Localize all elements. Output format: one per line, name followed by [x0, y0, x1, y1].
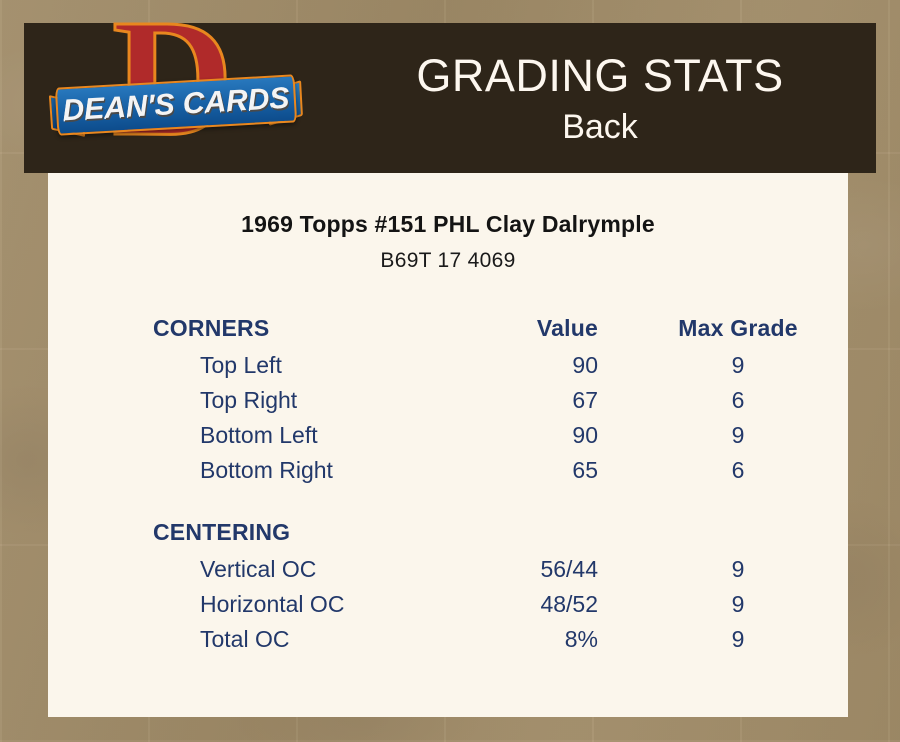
section-title-corners: CORNERS: [48, 308, 458, 348]
row-label-total-oc: Total OC: [48, 622, 458, 657]
card-id: B69T 17 4069: [48, 249, 848, 273]
row-grade-total-oc: 9: [628, 622, 848, 657]
row-value-vertical-oc: 56/44: [458, 552, 628, 587]
column-header-max-grade: Max Grade: [628, 308, 848, 348]
page-subtitle: Back: [562, 106, 638, 148]
section-centering-grade-spacer: [628, 512, 848, 552]
table-row: Top Left 90 9: [48, 348, 848, 383]
table-row: Total OC 8% 9: [48, 622, 848, 657]
header-title-block: GRADING STATS Back: [324, 23, 876, 173]
card-title: 1969 Topps #151 PHL Clay Dalrymple: [48, 211, 848, 238]
row-value-total-oc: 8%: [458, 622, 628, 657]
table-row: Vertical OC 56/44 9: [48, 552, 848, 587]
app-header: D DEAN'S CARDS GRADING STATS Back: [24, 23, 876, 173]
table-row: Top Right 67 6: [48, 383, 848, 418]
logo-ribbon-text: DEAN'S CARDS: [49, 74, 303, 136]
table-row: Bottom Left 90 9: [48, 418, 848, 453]
row-grade-top-left: 9: [628, 348, 848, 383]
grading-stats-table: CORNERS Value Max Grade Top Left 90 9 To…: [48, 308, 848, 657]
row-grade-vertical-oc: 9: [628, 552, 848, 587]
section-header-centering: CENTERING: [48, 512, 848, 552]
row-grade-bottom-right: 6: [628, 453, 848, 488]
logo-ribbon: DEAN'S CARDS: [50, 73, 302, 137]
row-label-vertical-oc: Vertical OC: [48, 552, 458, 587]
row-value-horizontal-oc: 48/52: [458, 587, 628, 622]
row-value-top-left: 90: [458, 348, 628, 383]
section-spacer: [48, 488, 848, 512]
row-label-bottom-right: Bottom Right: [48, 453, 458, 488]
page-title: GRADING STATS: [416, 48, 783, 104]
row-label-horizontal-oc: Horizontal OC: [48, 587, 458, 622]
row-label-top-right: Top Right: [48, 383, 458, 418]
row-grade-top-right: 6: [628, 383, 848, 418]
section-centering-value-spacer: [458, 512, 628, 552]
row-grade-bottom-left: 9: [628, 418, 848, 453]
grading-stats-body: CORNERS Value Max Grade Top Left 90 9 To…: [48, 308, 848, 657]
table-row: Bottom Right 65 6: [48, 453, 848, 488]
row-label-top-left: Top Left: [48, 348, 458, 383]
row-value-bottom-left: 90: [458, 418, 628, 453]
row-value-bottom-right: 65: [458, 453, 628, 488]
row-label-bottom-left: Bottom Left: [48, 418, 458, 453]
section-header-corners: CORNERS Value Max Grade: [48, 308, 848, 348]
row-value-top-right: 67: [458, 383, 628, 418]
deans-cards-logo: D DEAN'S CARDS: [50, 29, 305, 167]
table-row: Horizontal OC 48/52 9: [48, 587, 848, 622]
row-grade-horizontal-oc: 9: [628, 587, 848, 622]
section-title-centering: CENTERING: [48, 512, 458, 552]
content-panel: 1969 Topps #151 PHL Clay Dalrymple B69T …: [48, 173, 848, 717]
column-header-value: Value: [458, 308, 628, 348]
